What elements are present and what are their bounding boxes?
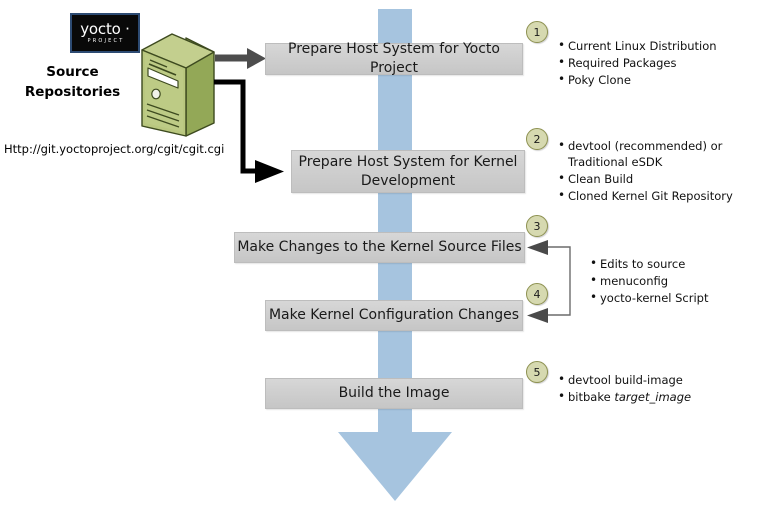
arrow-server-to-step1: [215, 48, 266, 69]
source-repositories-label: Source Repositories: [10, 62, 135, 102]
bracket-notes-to-steps-3-4: [527, 240, 570, 323]
note-item: menuconfig: [590, 273, 763, 289]
step-box-build-image[interactable]: Build the Image: [265, 378, 523, 409]
step-box-make-source-changes[interactable]: Make Changes to the Kernel Source Files: [234, 232, 525, 263]
step-number-badge-1: 1: [526, 21, 548, 43]
note-item: Cloned Kernel Git Repository: [558, 188, 761, 204]
step-number-badge-2: 2: [526, 128, 548, 150]
note-command: bitbake: [568, 390, 614, 404]
step-notes-1: Current Linux Distribution Required Pack…: [546, 38, 761, 89]
step-box-prepare-host-yocto[interactable]: Prepare Host System for Yocto Project: [265, 43, 523, 75]
note-argument: target_image: [614, 390, 691, 404]
step-number-badge-4: 4: [526, 283, 548, 305]
note-item: Required Packages: [558, 55, 761, 71]
note-item: devtool (recommended) or Traditional eSD…: [558, 138, 761, 170]
diagram-canvas: yocto · PROJECT Source Repositories: [0, 0, 769, 517]
step-notes-3-and-4: Edits to source menuconfig yocto-kernel …: [578, 256, 763, 307]
step-box-prepare-host-kernel[interactable]: Prepare Host System for Kernel Developme…: [291, 150, 525, 193]
yocto-project-logo: yocto · PROJECT: [70, 13, 140, 53]
note-item: Edits to source: [590, 256, 763, 272]
note-item: yocto-kernel Script: [590, 290, 763, 306]
source-label-line2: Repositories: [10, 82, 135, 102]
step-notes-5: devtool build-image bitbake target_image: [546, 372, 761, 406]
arrow-server-to-step2: [214, 82, 284, 183]
step-notes-2: devtool (recommended) or Traditional eSD…: [546, 138, 761, 205]
note-item: Current Linux Distribution: [558, 38, 761, 54]
source-label-line1: Source: [10, 62, 135, 82]
step-number-badge-5: 5: [526, 361, 548, 383]
note-item: devtool build-image: [558, 372, 761, 388]
logo-wordmark: yocto ·: [80, 22, 130, 37]
step-box-make-config-changes[interactable]: Make Kernel Configuration Changes: [265, 300, 523, 331]
source-repository-url: Http://git.yoctoproject.org/cgit/cgit.cg…: [4, 142, 224, 156]
server-tower-icon: [134, 28, 218, 138]
note-item: Clean Build: [558, 171, 761, 187]
logo-subtext: PROJECT: [87, 39, 124, 44]
note-item: Poky Clone: [558, 72, 761, 88]
step-number-badge-3: 3: [526, 215, 548, 237]
note-item: bitbake target_image: [558, 389, 761, 405]
